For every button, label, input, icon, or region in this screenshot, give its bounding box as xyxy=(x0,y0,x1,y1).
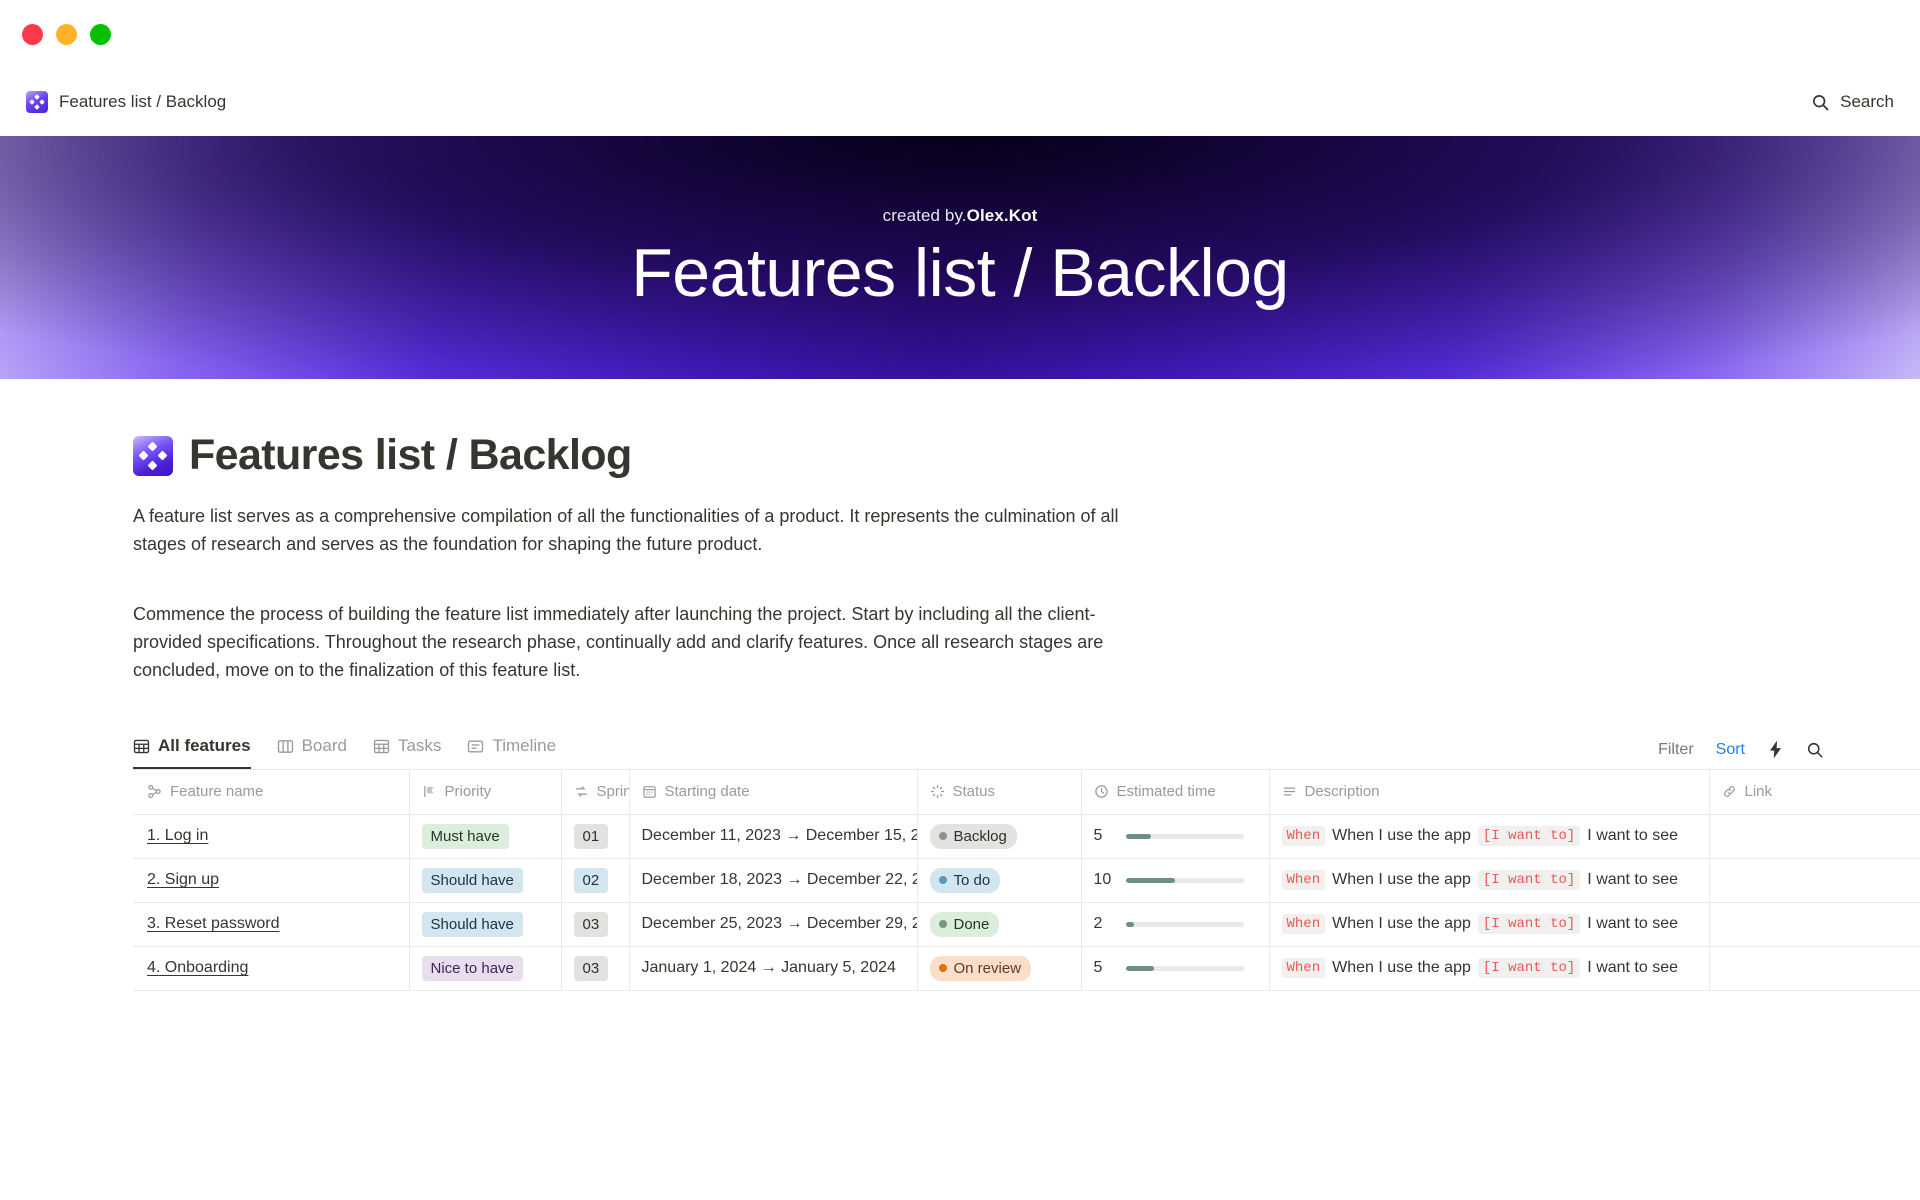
desc-tag-iwantto: [I want to] xyxy=(1478,826,1580,846)
breadcrumb[interactable]: Features list / Backlog xyxy=(26,91,226,113)
desc-tag-iwantto: [I want to] xyxy=(1478,914,1580,934)
status-dot-icon xyxy=(939,920,947,928)
desc-text-when: When I use the app xyxy=(1332,915,1471,933)
page-paragraph-2: Commence the process of building the fea… xyxy=(133,600,1161,684)
select-icon xyxy=(422,784,437,799)
cell-estimated-time[interactable]: 2 xyxy=(1081,902,1269,946)
status-label: On review xyxy=(954,959,1022,978)
column-header-sprint[interactable]: Sprint xyxy=(561,770,629,814)
estimated-time-value: 5 xyxy=(1094,959,1116,977)
desc-text-iwantto: I want to see xyxy=(1587,871,1678,889)
table-header-row: Feature name Priority xyxy=(133,770,1920,814)
tab-tasks[interactable]: Tasks xyxy=(373,727,441,769)
tab-all-features-label: All features xyxy=(158,736,251,756)
sprint-chip: 02 xyxy=(574,868,609,893)
priority-chip: Nice to have xyxy=(422,956,523,981)
desc-tag-iwantto: [I want to] xyxy=(1478,870,1580,890)
sort-button[interactable]: Sort xyxy=(1716,741,1745,759)
link-icon xyxy=(1722,784,1737,799)
column-label: Feature name xyxy=(170,783,263,800)
sprint-chip: 03 xyxy=(574,956,609,981)
relation-sync-icon xyxy=(574,784,589,799)
column-header-description[interactable]: Description xyxy=(1269,770,1709,814)
tab-tasks-label: Tasks xyxy=(398,736,441,756)
cell-link[interactable] xyxy=(1709,858,1920,902)
tab-board[interactable]: Board xyxy=(277,727,347,769)
cell-status[interactable]: Done xyxy=(917,902,1081,946)
hero-credit-author: Olex.Kot xyxy=(967,206,1038,225)
view-tabs: All features Board xyxy=(133,727,556,769)
desc-tag-when: When xyxy=(1282,826,1326,846)
feature-name-link[interactable]: 1. Log in xyxy=(147,827,208,844)
cell-feature-name[interactable]: 1. Log in xyxy=(133,814,409,858)
cell-starting-date[interactable]: December 18, 2023 → December 22, 2023 xyxy=(629,858,917,902)
app-topbar: Features list / Backlog Search xyxy=(0,68,1920,136)
cell-link[interactable] xyxy=(1709,946,1920,990)
feature-name-link[interactable]: 2. Sign up xyxy=(147,871,219,888)
desc-text-iwantto: I want to see xyxy=(1587,959,1678,977)
timeline-icon xyxy=(467,738,484,755)
priority-chip: Must have xyxy=(422,824,509,849)
table-row[interactable]: 2. Sign up Should have 02 December 18, 2… xyxy=(133,858,1920,902)
feature-name-link[interactable]: 3. Reset password xyxy=(147,915,280,932)
tab-timeline[interactable]: Timeline xyxy=(467,727,556,769)
features-table: Feature name Priority xyxy=(133,770,1920,991)
table-row[interactable]: 3. Reset password Should have 03 Decembe… xyxy=(133,902,1920,946)
column-header-link[interactable]: Link xyxy=(1709,770,1920,814)
estimated-time-progress xyxy=(1126,878,1244,883)
column-header-feature-name[interactable]: Feature name xyxy=(133,770,409,814)
status-dot-icon xyxy=(939,832,947,840)
column-label: Estimated time xyxy=(1117,783,1216,800)
cell-status[interactable]: Backlog xyxy=(917,814,1081,858)
status-badge: Backlog xyxy=(930,824,1017,849)
relation-icon xyxy=(147,784,162,799)
column-label: Status xyxy=(953,783,996,800)
window-close-button[interactable] xyxy=(22,24,43,45)
lightning-icon[interactable] xyxy=(1767,740,1784,759)
column-label: Sprint xyxy=(597,783,630,800)
desc-text-iwantto: I want to see xyxy=(1587,827,1678,845)
sprint-chip: 01 xyxy=(574,824,609,849)
cell-priority[interactable]: Must have xyxy=(409,814,561,858)
desc-text-when: When I use the app xyxy=(1332,959,1471,977)
desc-text-iwantto: I want to see xyxy=(1587,915,1678,933)
column-label: Starting date xyxy=(665,783,750,800)
cell-link[interactable] xyxy=(1709,902,1920,946)
table-body: 1. Log in Must have 01 December 11, 2023… xyxy=(133,814,1920,990)
status-dot-icon xyxy=(939,964,947,972)
column-header-starting-date[interactable]: Starting date xyxy=(629,770,917,814)
breadcrumb-title: Features list / Backlog xyxy=(59,92,226,112)
tab-all-features[interactable]: All features xyxy=(133,727,251,769)
cell-starting-date[interactable]: December 25, 2023 → December 29, 2023 xyxy=(629,902,917,946)
window-titlebar xyxy=(0,0,1920,68)
text-icon xyxy=(1282,784,1297,799)
table-icon xyxy=(133,738,150,755)
cell-feature-name[interactable]: 2. Sign up xyxy=(133,858,409,902)
priority-chip: Should have xyxy=(422,868,523,893)
cell-estimated-time[interactable]: 5 xyxy=(1081,946,1269,990)
status-badge: On review xyxy=(930,956,1032,981)
cell-priority[interactable]: Nice to have xyxy=(409,946,561,990)
status-icon xyxy=(930,784,945,799)
column-header-estimated-time[interactable]: Estimated time xyxy=(1081,770,1269,814)
features-doc-icon xyxy=(26,91,48,113)
cell-description[interactable]: When When I use the app [I want to] I wa… xyxy=(1269,902,1709,946)
desc-tag-when: When xyxy=(1282,914,1326,934)
desc-tag-when: When xyxy=(1282,870,1326,890)
cell-description[interactable]: When When I use the app [I want to] I wa… xyxy=(1269,946,1709,990)
cell-feature-name[interactable]: 4. Onboarding xyxy=(133,946,409,990)
desc-text-when: When I use the app xyxy=(1332,827,1471,845)
desc-tag-when: When xyxy=(1282,958,1326,978)
estimated-time-value: 10 xyxy=(1094,871,1116,889)
estimated-time-value: 2 xyxy=(1094,915,1116,933)
filter-button[interactable]: Filter xyxy=(1658,741,1694,759)
clock-icon xyxy=(1094,784,1109,799)
status-badge: Done xyxy=(930,912,1000,937)
status-label: To do xyxy=(954,871,991,890)
database-view-bar: All features Board xyxy=(133,728,1920,770)
page-title: Features list / Backlog xyxy=(189,431,632,480)
estimated-time-value: 5 xyxy=(1094,827,1116,845)
tab-timeline-label: Timeline xyxy=(492,736,556,756)
page-body: Features list / Backlog A feature list s… xyxy=(0,379,1920,991)
cell-priority[interactable]: Should have xyxy=(409,902,561,946)
cell-estimated-time[interactable]: 10 xyxy=(1081,858,1269,902)
cell-priority[interactable]: Should have xyxy=(409,858,561,902)
hero-credit: created by.Olex.Kot xyxy=(883,206,1038,226)
desc-tag-iwantto: [I want to] xyxy=(1478,958,1580,978)
status-label: Backlog xyxy=(954,827,1007,846)
window-maximize-button[interactable] xyxy=(90,24,111,45)
column-label: Description xyxy=(1305,783,1380,800)
estimated-time-progress xyxy=(1126,922,1244,927)
tab-board-label: Board xyxy=(302,736,347,756)
board-icon xyxy=(277,738,294,755)
cell-description[interactable]: When When I use the app [I want to] I wa… xyxy=(1269,858,1709,902)
sprint-chip: 03 xyxy=(574,912,609,937)
cell-estimated-time[interactable]: 5 xyxy=(1081,814,1269,858)
column-label: Priority xyxy=(445,783,492,800)
cell-status[interactable]: To do xyxy=(917,858,1081,902)
search-icon[interactable] xyxy=(1806,741,1824,759)
column-header-priority[interactable]: Priority xyxy=(409,770,561,814)
hero-banner: created by.Olex.Kot Features list / Back… xyxy=(0,136,1920,379)
cell-sprint[interactable]: 03 xyxy=(561,902,629,946)
priority-chip: Should have xyxy=(422,912,523,937)
topbar-search-button[interactable]: Search xyxy=(1811,92,1894,112)
cell-sprint[interactable]: 03 xyxy=(561,946,629,990)
column-label: Link xyxy=(1745,783,1773,800)
window-minimize-button[interactable] xyxy=(56,24,77,45)
calendar-icon xyxy=(642,784,657,799)
cell-description[interactable]: When When I use the app [I want to] I wa… xyxy=(1269,814,1709,858)
cell-starting-date[interactable]: January 1, 2024 → January 5, 2024 xyxy=(629,946,917,990)
page-header: Features list / Backlog xyxy=(133,431,1920,480)
hero-credit-prefix: created by. xyxy=(883,206,967,225)
cell-status[interactable]: On review xyxy=(917,946,1081,990)
search-icon xyxy=(1811,93,1830,112)
table-icon xyxy=(373,738,390,755)
page-paragraph-1: A feature list serves as a comprehensive… xyxy=(133,502,1161,558)
feature-name-link[interactable]: 4. Onboarding xyxy=(147,959,248,976)
estimated-time-progress xyxy=(1126,834,1244,839)
status-dot-icon xyxy=(939,876,947,884)
status-badge: To do xyxy=(930,868,1001,893)
column-header-status[interactable]: Status xyxy=(917,770,1081,814)
status-label: Done xyxy=(954,915,990,934)
page-content: Features list / Backlog A feature list s… xyxy=(0,379,1920,991)
cell-sprint[interactable]: 01 xyxy=(561,814,629,858)
features-diamond-icon xyxy=(133,436,173,476)
table-row[interactable]: 4. Onboarding Nice to have 03 January 1,… xyxy=(133,946,1920,990)
view-toolbar: Filter Sort xyxy=(1658,740,1824,769)
desc-text-when: When I use the app xyxy=(1332,871,1471,889)
cell-starting-date[interactable]: December 11, 2023 → December 15, 2023 xyxy=(629,814,917,858)
table-row[interactable]: 1. Log in Must have 01 December 11, 2023… xyxy=(133,814,1920,858)
hero-title: Features list / Backlog xyxy=(631,238,1288,309)
topbar-search-label: Search xyxy=(1840,92,1894,112)
cell-feature-name[interactable]: 3. Reset password xyxy=(133,902,409,946)
estimated-time-progress xyxy=(1126,966,1244,971)
cell-sprint[interactable]: 02 xyxy=(561,858,629,902)
cell-link[interactable] xyxy=(1709,814,1920,858)
